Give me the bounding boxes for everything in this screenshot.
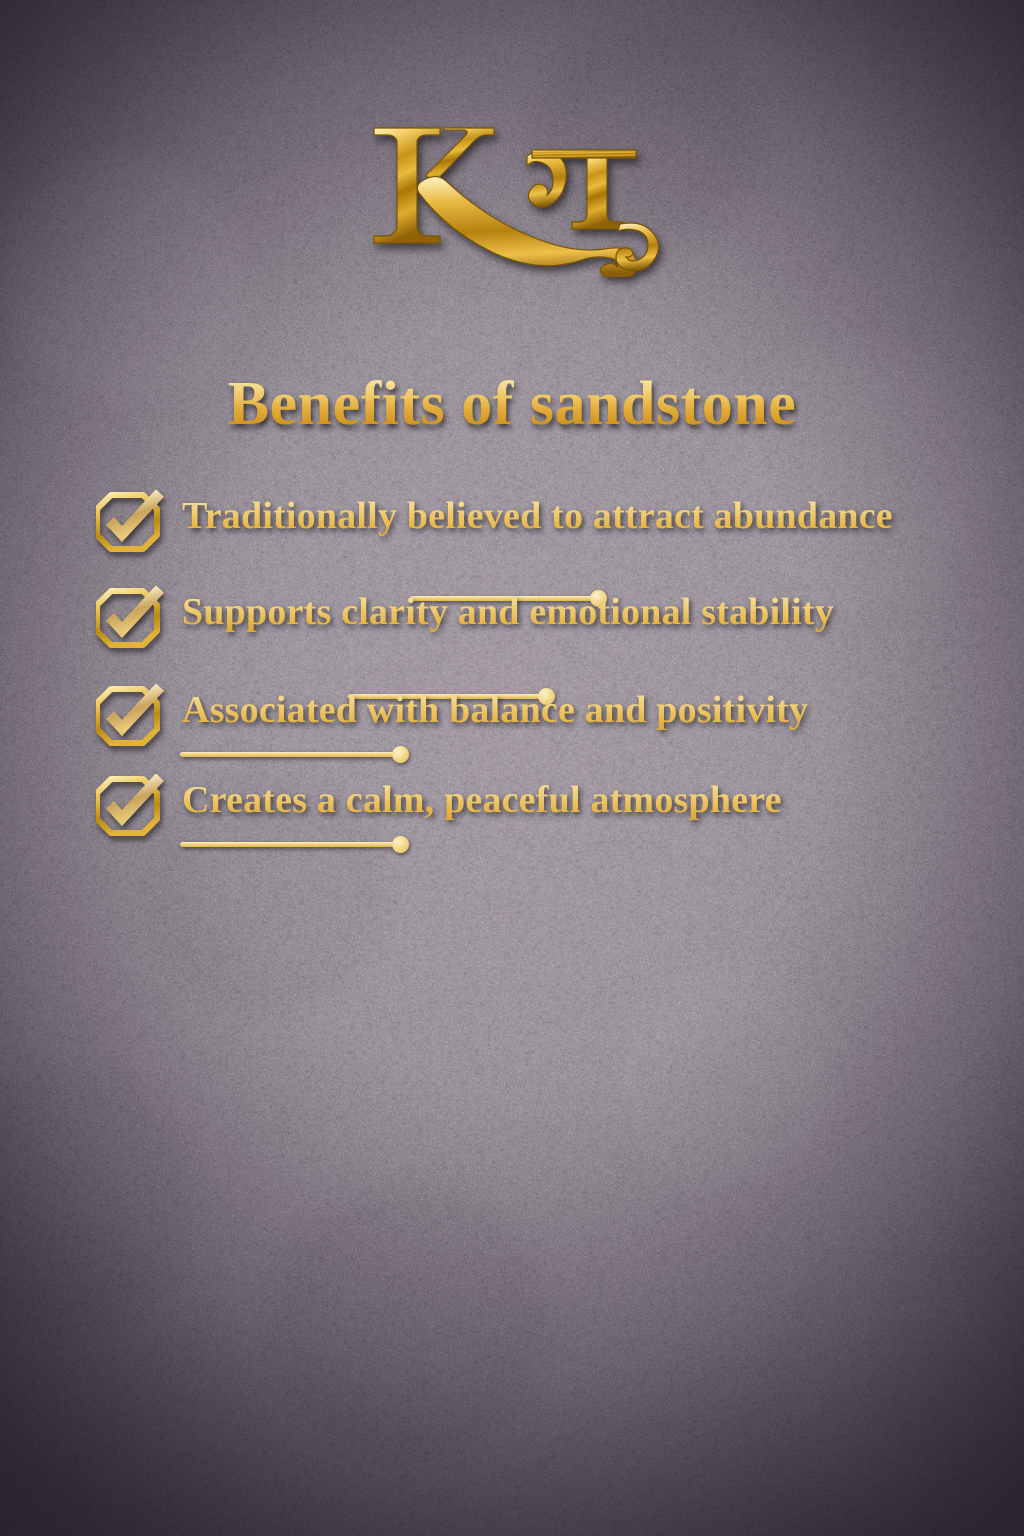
page-title: Benefits of sandstone (0, 372, 1024, 437)
checkbox-checked-icon (96, 774, 170, 838)
poster-canvas: Benefits of sandstone (0, 0, 1024, 1536)
checkbox-checked-icon (96, 586, 170, 650)
list-item: Associated with balance and positivity (96, 680, 956, 748)
checkbox-checked-icon (96, 684, 170, 748)
list-item-row: Creates a calm, peaceful atmosphere (96, 770, 956, 838)
separator-bar (180, 752, 394, 757)
list-item-label: Creates a calm, peaceful atmosphere (182, 770, 782, 828)
separator-dot (392, 746, 409, 763)
poster-content: Benefits of sandstone (0, 0, 1024, 1536)
benefits-list: Traditionally believed to attract abunda… (96, 486, 956, 838)
kji-monogram-logo-icon (352, 112, 672, 277)
list-item-separator (180, 746, 409, 763)
brand-logo (0, 104, 1024, 284)
list-item-row: Traditionally believed to attract abunda… (96, 486, 956, 554)
list-item-label: Traditionally believed to attract abunda… (182, 486, 893, 544)
list-item-label: Associated with balance and positivity (182, 680, 808, 738)
list-item: Supports clarity and emotional stability (96, 582, 956, 650)
list-item: Creates a calm, peaceful atmosphere (96, 770, 956, 838)
list-item-row: Supports clarity and emotional stability (96, 582, 956, 650)
separator-dot (392, 836, 409, 853)
separator-bar (180, 842, 394, 847)
list-item-row: Associated with balance and positivity (96, 680, 956, 748)
list-item-label: Supports clarity and emotional stability (182, 582, 834, 640)
list-item: Traditionally believed to attract abunda… (96, 486, 956, 554)
checkbox-checked-icon (96, 490, 170, 554)
list-item-separator (180, 836, 409, 853)
